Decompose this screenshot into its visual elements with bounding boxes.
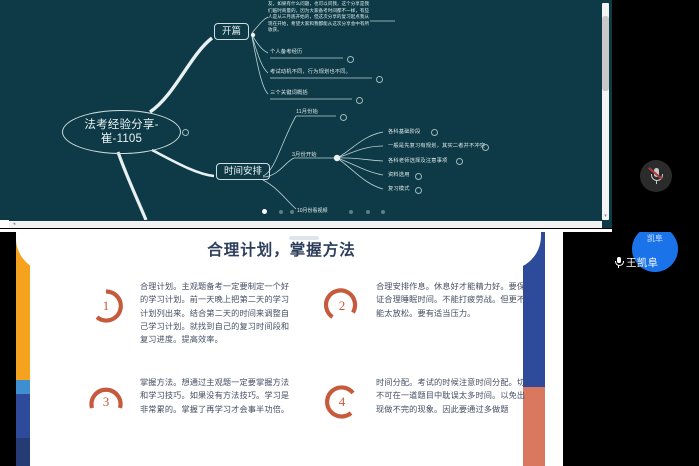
slide-block-2: 2 合理安排作息。休息好才能精力好。要保证合理睡眠时间。不能打疲劳战。但更不能太… [310, 280, 528, 370]
mindmap-dot-3[interactable] [290, 210, 294, 214]
block-text-3: 掌握方法。想通过主观题一定要掌握方法和学习技巧。如果没有方法技巧。学习是非常累的… [140, 376, 290, 416]
scroll-down-arrow-icon[interactable]: ▾ [602, 212, 609, 220]
root-collapse-icon[interactable] [182, 129, 189, 136]
mindmap-canvas[interactable]: 法考经验分享- 崔-1105 开篇 时间安排 友，如果有什么问题，也可以问我，这… [0, 0, 602, 220]
mindmap-dot-active[interactable] [262, 209, 267, 214]
mindmap-leaf-oct[interactable]: 10月份看视频 [297, 208, 328, 214]
collapse-icon-3[interactable] [356, 97, 363, 104]
collapse-icon-4[interactable] [340, 114, 347, 121]
mindmap-dot-4[interactable] [349, 210, 353, 214]
meeting-screen: 法考经验分享- 崔-1105 开篇 时间安排 友，如果有什么问题，也可以问我，这… [0, 0, 699, 466]
block-number-1: 1 [88, 288, 124, 324]
mic-icon [615, 257, 623, 268]
collapse-icon-1[interactable] [347, 56, 354, 63]
slide-content-blocks: 1 合理计划。主观题备考一定要制定一个好的学习计划。前一天晚上把第二天的学习计划… [60, 280, 510, 466]
mindmap-dot-5[interactable] [366, 210, 370, 214]
mindmap-sub-1[interactable]: 各科基础阶段 [388, 129, 420, 135]
collapse-icon-2[interactable] [376, 76, 383, 83]
slide-block-4: 4 时间分配。考试的时候注意时间分配。切不可在一道题目中耽误太多时间。以免出现做… [310, 376, 528, 466]
collapse-icon-s2[interactable] [482, 144, 489, 151]
mindmap-sub-2[interactable]: 一般是先复习有规划，其实二者并不冲突 [388, 143, 485, 149]
collapse-icon-s3[interactable] [456, 158, 463, 165]
mindmap-root-node[interactable]: 法考经验分享- 崔-1105 [62, 110, 181, 154]
mindmap-sub-3[interactable]: 各科老师选择及注意事项 [388, 158, 447, 164]
mindmap-leaf-intro[interactable]: 友，如果有什么问题，也可以问我，这个分享是我们临时商量的，因为大家备考时间都不一… [268, 1, 373, 34]
block-number-4: 4 [324, 384, 360, 420]
mindmap-dot-6[interactable] [381, 210, 385, 214]
ring-icon-3: 3 [88, 384, 124, 420]
block-text-2: 合理安排作息。休息好才能精力好。要保证合理睡眠时间。不能打疲劳战。但更不能太放松… [376, 280, 526, 320]
mindmap-branch-kaipian[interactable]: 开篇 [214, 23, 249, 40]
block-text-1: 合理计划。主观题备考一定要制定一个好的学习计划。前一天晚上把第二天的学习计划列出… [140, 280, 290, 346]
presentation-slide[interactable]: 合理计划，掌握方法 1 合理计划。主观题备考一定要制定一个好的学习计划。前一天晚… [0, 232, 563, 466]
avatar-initials: 凯阜 [632, 233, 678, 244]
mindmap-sub-5[interactable]: 复习模式 [388, 186, 410, 192]
participant-tile-top[interactable] [612, 0, 699, 228]
collapse-icon-s4[interactable] [415, 173, 422, 180]
mindmap-leaf-motivation[interactable]: 考试动机不同，行为规划也不同。 [270, 69, 351, 75]
mindmap-dot-2[interactable] [279, 210, 283, 214]
shared-screen-window[interactable]: 法考经验分享- 崔-1105 开篇 时间安排 友，如果有什么问题，也可以问我，这… [0, 0, 612, 228]
participant-tile-bottom[interactable]: 凯阜 王凯阜 [612, 232, 699, 466]
root-line-2: 崔-1105 [84, 132, 158, 146]
slide-block-3: 3 掌握方法。想通过主观题一定要掌握方法和学习技巧。如果没有方法技巧。学习是非常… [74, 376, 292, 466]
collapse-icon-s5[interactable] [415, 187, 422, 194]
block-number-2: 2 [324, 288, 360, 324]
mindmap-leaf-personal-exp[interactable]: 个人备考经历 [270, 49, 302, 55]
participant-name-row: 王凯阜 [615, 255, 658, 270]
ring-icon-1: 1 [88, 288, 124, 324]
ring-icon-4: 4 [324, 384, 360, 420]
block-number-3: 3 [88, 384, 124, 420]
mindmap-sub-4[interactable]: 资料选用 [388, 172, 410, 178]
mindmap-leaf-nov[interactable]: 11月份始 [296, 109, 318, 115]
ring-icon-2: 2 [324, 288, 360, 324]
root-line-1: 法考经验分享- [84, 118, 158, 132]
slide-left-white-panel [30, 232, 54, 466]
participant-name: 王凯阜 [626, 255, 658, 270]
slide-right-pad [545, 232, 563, 466]
horizontal-scrollbar[interactable]: ◂ [9, 221, 602, 228]
collapse-icon-s1[interactable] [431, 129, 438, 136]
slide-title: 合理计划，掌握方法 [0, 238, 563, 260]
vertical-scrollbar[interactable]: ▾ [602, 3, 609, 220]
mic-muted-icon [640, 160, 672, 192]
vertical-scrollbar-thumb[interactable] [602, 16, 609, 91]
block-text-4: 时间分配。考试的时候注意时间分配。切不可在一道题目中耽误太多时间。以免出现做不完… [376, 376, 526, 416]
mindmap-leaf-keywords[interactable]: 三个关键词概括 [270, 90, 308, 96]
scroll-left-arrow-icon[interactable]: ◂ [10, 221, 18, 228]
mindmap-branch-shijian[interactable]: 时间安排 [216, 163, 270, 180]
slide-block-1: 1 合理计划。主观题备考一定要制定一个好的学习计划。前一天晚上把第二天的学习计划… [74, 280, 292, 370]
mindmap-leaf-march[interactable]: 3月份开始 [292, 152, 317, 158]
slide-left-black-bar [0, 232, 16, 466]
